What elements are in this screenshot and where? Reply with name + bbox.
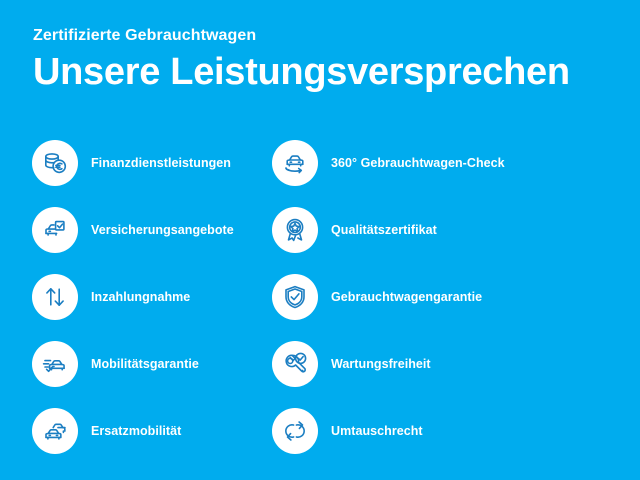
feature-label: Finanzdienstleistungen [91,155,231,171]
promo-panel: Zertifizierte Gebrauchtwagen Unsere Leis… [0,0,640,480]
feature-item: Qualitätszertifikat [238,196,640,263]
wrench-check-icon [272,341,318,387]
header-block: Zertifizierte Gebrauchtwagen Unsere Leis… [33,26,613,95]
feature-item: Wartungsfreiheit [238,330,640,397]
feature-item: 360° Gebrauchtwagen-Check [238,129,640,196]
car-speed-lines-icon [32,341,78,387]
award-rosette-star-icon [272,207,318,253]
page-title: Unsere Leistungsversprechen [33,49,613,95]
feature-label: Inzahlungnahme [91,289,190,305]
coins-euro-icon [32,140,78,186]
feature-item: Mobilitätsgarantie [0,330,238,397]
exchange-arrows-icon [272,408,318,454]
eyebrow-text: Zertifizierte Gebrauchtwagen [33,26,613,46]
car-360-check-icon [272,140,318,186]
feature-item: Umtauschrecht [238,397,640,464]
feature-grid: Finanzdienstleistungen 360° Gebrauch [0,129,640,464]
feature-item: Inzahlungnahme [0,263,238,330]
feature-label: Qualitätszertifikat [331,222,437,238]
feature-label: Gebrauchtwagengarantie [331,289,482,305]
feature-label: 360° Gebrauchtwagen-Check [331,155,505,171]
car-insurance-checkbox-icon [32,207,78,253]
feature-item: Finanzdienstleistungen [0,129,238,196]
feature-label: Versicherungsangebote [91,222,234,238]
feature-label: Wartungsfreiheit [331,356,431,372]
feature-label: Mobilitätsgarantie [91,356,199,372]
feature-label: Umtauschrecht [331,423,423,439]
feature-label: Ersatzmobilität [91,423,181,439]
two-cars-icon [32,408,78,454]
shield-check-icon [272,274,318,320]
feature-item: Gebrauchtwagengarantie [238,263,640,330]
arrows-up-down-icon [32,274,78,320]
feature-item: Versicherungsangebote [0,196,238,263]
feature-item: Ersatzmobilität [0,397,238,464]
